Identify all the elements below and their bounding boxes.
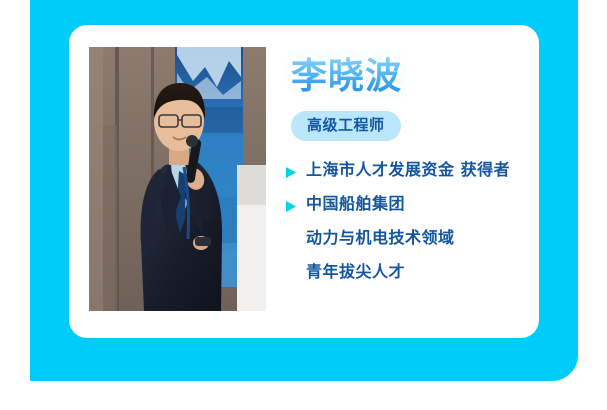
credential-text: 中国船舶集团 [306, 193, 405, 215]
speaker-photo-image [89, 47, 266, 311]
credential-text: 上海市人才发展资金 获得者 [306, 159, 510, 181]
credentials-list: 上海市人才发展资金 获得者 中国船舶集团 [284, 159, 524, 285]
speaker-info: 李晓波 李晓波 高级工程师 上海市人才发展资金 获得者 [284, 55, 524, 301]
poster-canvas: 李晓波 李晓波 高级工程师 上海市人才发展资金 获得者 [0, 0, 607, 410]
speaker-photo [89, 47, 266, 311]
list-item: 青年拔尖人才 [284, 261, 524, 285]
list-item: 上海市人才发展资金 获得者 [284, 159, 524, 183]
speaker-name-fill: 李晓波 [291, 55, 402, 99]
profile-card: 李晓波 李晓波 高级工程师 上海市人才发展资金 获得者 [69, 25, 539, 338]
triangle-right-icon [284, 193, 306, 217]
list-item: 中国船舶集团 [284, 193, 524, 217]
title-badge: 高级工程师 [291, 111, 401, 141]
triangle-right-icon [284, 159, 306, 183]
credential-text: 动力与机电技术领域 [306, 227, 455, 249]
speaker-name: 李晓波 李晓波 [291, 55, 524, 101]
credential-text: 青年拔尖人才 [306, 261, 405, 283]
list-item: 动力与机电技术领域 [284, 227, 524, 251]
